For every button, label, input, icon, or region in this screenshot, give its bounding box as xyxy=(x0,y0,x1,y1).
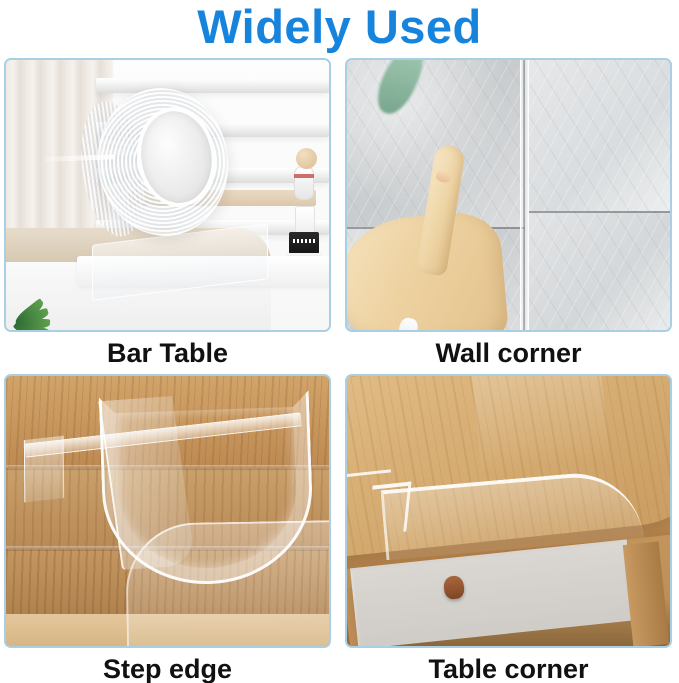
panel-caption: Bar Table xyxy=(4,335,331,371)
table-top-sheen xyxy=(471,374,611,474)
table-corner-scene xyxy=(347,376,670,646)
panel-caption: Wall corner xyxy=(345,335,672,371)
panel-grid: Bar Table xyxy=(0,58,679,683)
dark-box xyxy=(289,232,319,254)
panel-table-corner: Table corner xyxy=(345,374,675,683)
tape-roll xyxy=(88,80,237,245)
infographic-root: Widely Used xyxy=(0,0,679,683)
step-edge-scene xyxy=(6,376,329,646)
tape-lip xyxy=(24,436,64,503)
panel-step-edge: Step edge xyxy=(4,374,334,683)
hand xyxy=(345,136,534,332)
wall-tile xyxy=(528,211,670,330)
page-title: Widely Used xyxy=(0,0,679,55)
tile-groove xyxy=(528,211,670,213)
wall-tile xyxy=(528,60,670,211)
astronaut-figurine xyxy=(289,148,319,204)
panel-step-edge-image xyxy=(4,374,331,648)
wall-corner-scene xyxy=(347,60,670,330)
potted-plant xyxy=(4,272,60,332)
panel-table-corner-image xyxy=(345,374,672,648)
bar-table-scene xyxy=(6,60,329,330)
panel-caption: Step edge xyxy=(4,651,331,683)
panel-wall-corner: Wall corner xyxy=(345,58,675,371)
panel-bar-table-image xyxy=(4,58,331,332)
panel-bar-table: Bar Table xyxy=(4,58,334,371)
panel-caption: Table corner xyxy=(345,651,672,683)
panel-wall-corner-image xyxy=(345,58,672,332)
